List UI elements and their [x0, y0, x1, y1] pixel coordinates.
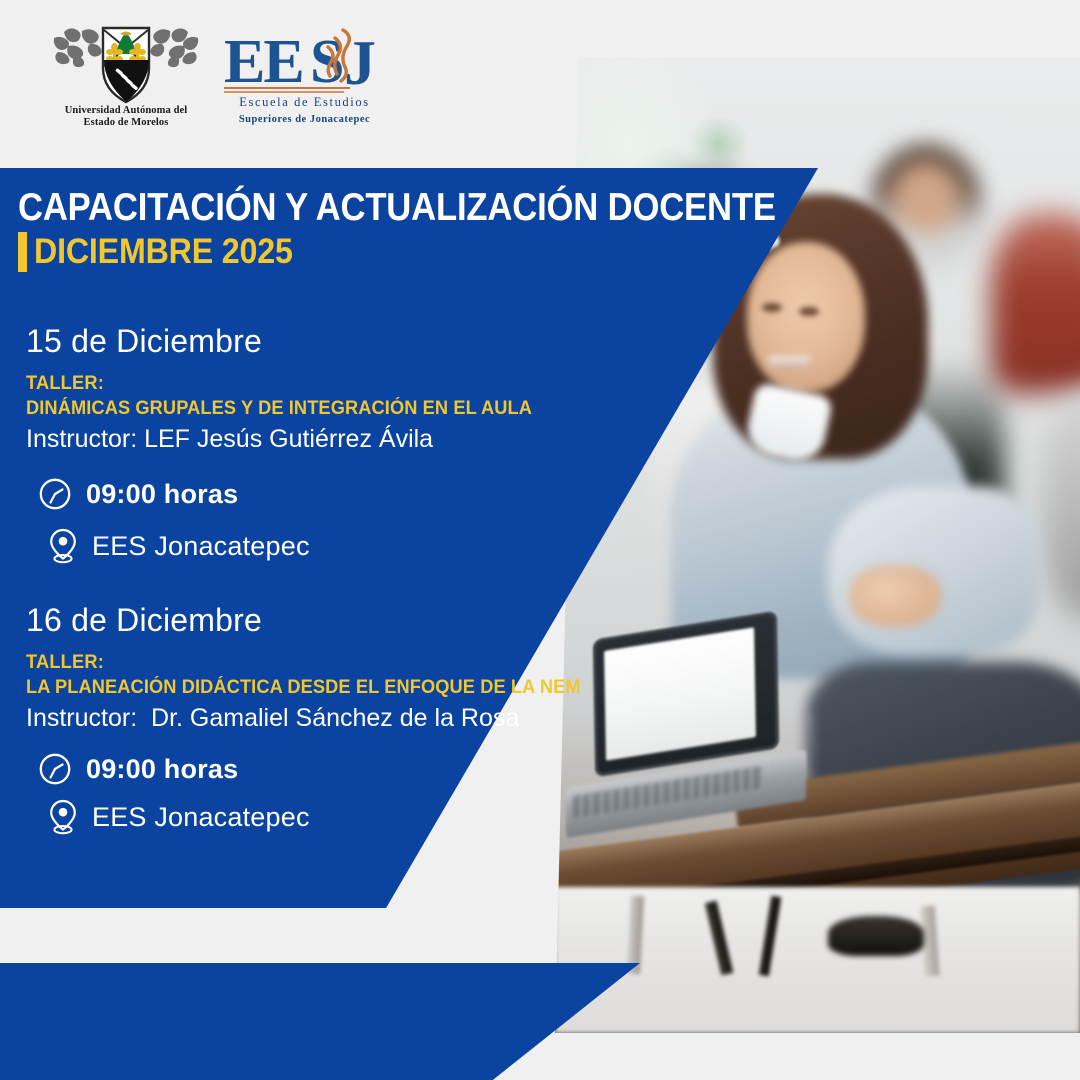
poster-subtitle-row: DICIEMBRE 2025 [18, 232, 740, 272]
eesj-caption-line-2: Superiores de Jonacatepec [222, 114, 387, 125]
eesj-monogram-icon: EE S J [222, 26, 387, 100]
uaem-caption-line-2: Estado de Morelos [46, 117, 206, 130]
yellow-accent-bar [18, 232, 27, 272]
svg-text:S: S [310, 28, 344, 96]
event-block-1: 15 de Diciembre TALLER: DINÁMICAS GRUPAL… [26, 322, 740, 565]
foreground-woman-arm [828, 486, 1038, 656]
poster-content: CAPACITACIÓN Y ACTUALIZACIÓN DOCENTE DIC… [0, 168, 740, 836]
foreground-woman-hand [849, 565, 941, 627]
location-pin-icon [48, 798, 78, 836]
uaem-logo: Universidad Autónoma del Estado de Morel… [46, 22, 206, 130]
blue-bottom-bar [0, 963, 640, 1080]
event-taller-name: LA PLANEACIÓN DIDÁCTICA DESDE EL ENFOQUE… [26, 675, 711, 700]
foreground-woman-eye-right [799, 307, 819, 316]
logo-header: Universidad Autónoma del Estado de Morel… [0, 0, 560, 168]
foreground-woman-smile [768, 356, 810, 370]
event-instructor: Instructor: Dr. Gamaliel Sánchez de la R… [26, 702, 740, 734]
event-place-text: EES Jonacatepec [92, 801, 310, 833]
clock-icon [38, 752, 72, 786]
event-place-row: EES Jonacatepec [48, 527, 740, 565]
poster-subtitle: DICIEMBRE 2025 [34, 232, 293, 272]
background-student-3 [991, 213, 1080, 393]
event-date: 15 de Diciembre [26, 322, 740, 360]
svg-text:EE: EE [224, 28, 303, 96]
event-time-row: 09:00 horas [38, 477, 740, 511]
foreground-woman-face [747, 242, 865, 392]
uaem-shield-icon [46, 22, 206, 106]
event-taller-label: TALLER: [26, 371, 711, 396]
shoe [828, 916, 924, 956]
event-place-row: EES Jonacatepec [48, 798, 740, 836]
background-student-4 [1043, 389, 1080, 619]
event-taller-label: TALLER: [26, 650, 711, 675]
eesj-logo: EE S J Escuela de Estudios Superiores de… [222, 26, 387, 126]
event-place-text: EES Jonacatepec [92, 530, 310, 562]
event-time-text: 09:00 horas [86, 753, 238, 785]
poster-canvas: Universidad Autónoma del Estado de Morel… [0, 0, 1080, 1080]
uaem-caption-line-1: Universidad Autónoma del [46, 105, 206, 118]
event-instructor: Instructor: LEF Jesús Gutiérrez Ávila [26, 423, 740, 455]
event-block-2: 16 de Diciembre TALLER: LA PLANEACIÓN DI… [26, 601, 740, 836]
event-time-text: 09:00 horas [86, 478, 238, 510]
event-taller-name: DINÁMICAS GRUPALES Y DE INTEGRACIÓN EN E… [26, 396, 711, 421]
event-date: 16 de Diciembre [26, 601, 740, 639]
event-time-row: 09:00 horas [38, 752, 740, 786]
eesj-caption-line-1: Escuela de Estudios [222, 95, 387, 110]
poster-title: CAPACITACIÓN Y ACTUALIZACIÓN DOCENTE [18, 186, 668, 230]
location-pin-icon [48, 527, 78, 565]
clock-icon [38, 477, 72, 511]
uaem-logo-caption: Universidad Autónoma del Estado de Morel… [46, 105, 206, 130]
